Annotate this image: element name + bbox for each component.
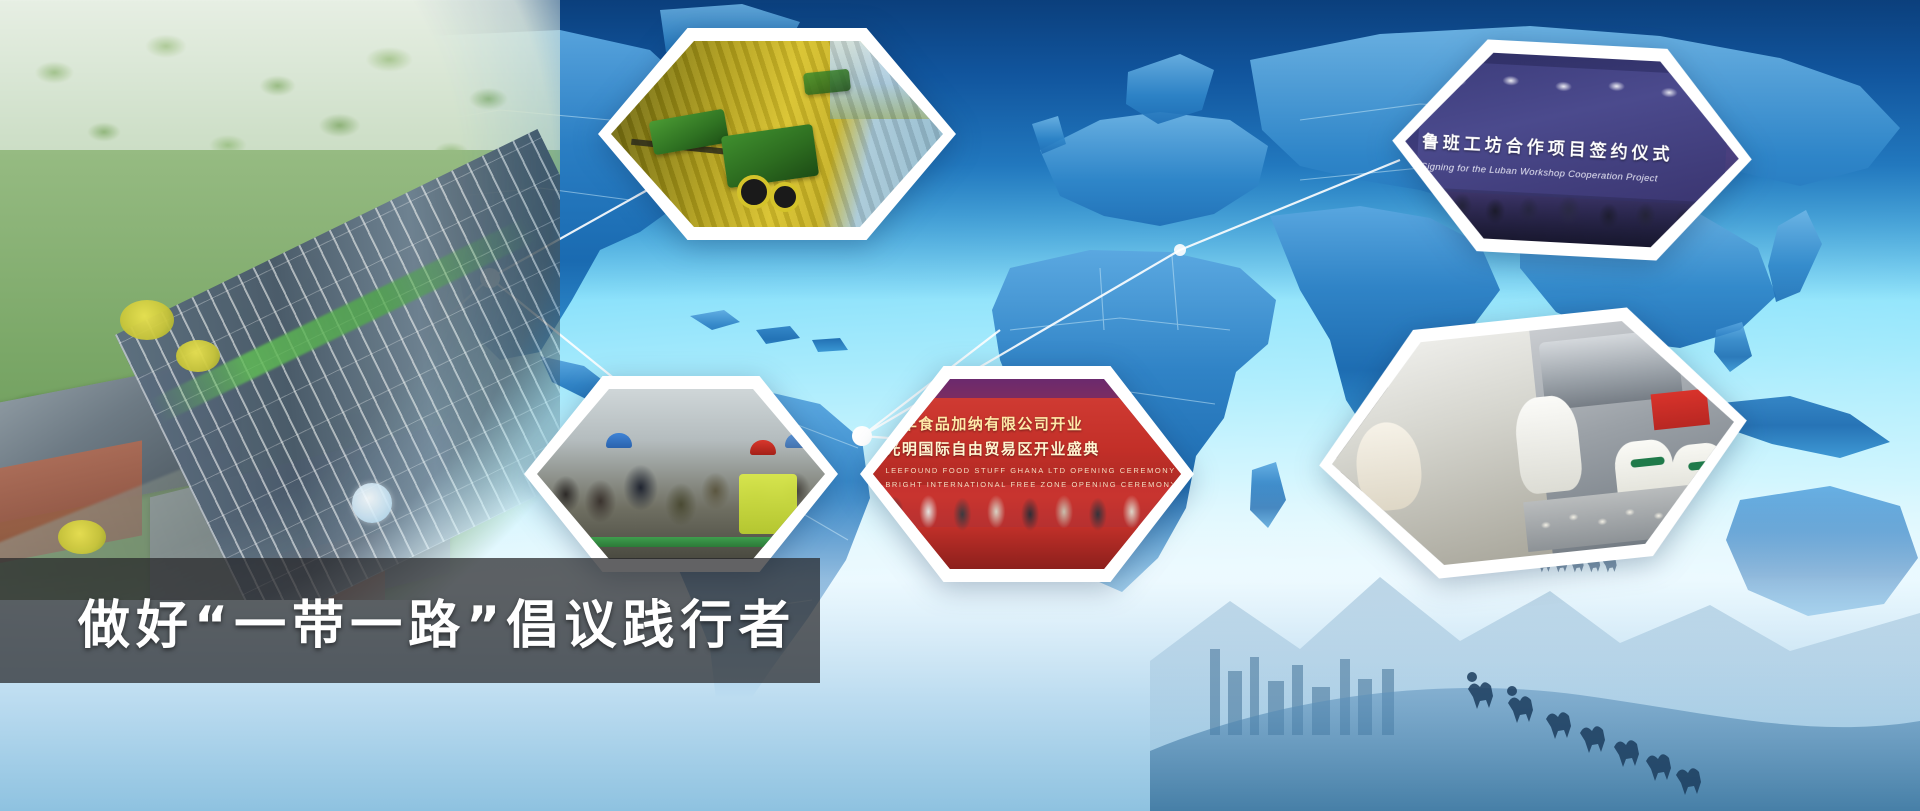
- workers-scene: [537, 389, 825, 559]
- campus-greenhouse-photo: [0, 0, 560, 600]
- chef-hat-blue: [1339, 524, 1381, 552]
- headline-title: 做好“一带一路”倡议践行者: [0, 583, 796, 658]
- hex-photo-site-delegation[interactable]: [524, 376, 838, 572]
- photo-yellow-tree-b: [176, 340, 220, 372]
- chef-student: [1670, 441, 1730, 510]
- harvester-wheel-front: [737, 175, 771, 209]
- kitchen-scene: [1320, 310, 1745, 575]
- photo-yellow-tree-c: [58, 520, 106, 554]
- green-barrier-rail: [537, 537, 825, 547]
- hex-frame: [524, 376, 838, 572]
- hex-frame: 鲁班工坊合作项目签约仪式 Signing for the Luban Works…: [1387, 35, 1758, 266]
- hard-hat-blue-2: [785, 433, 811, 448]
- chef-toque-white: [1341, 548, 1376, 575]
- photo-roof-logo: [352, 483, 392, 523]
- china-flag-backdrop: [1650, 389, 1709, 431]
- hex-image: [1320, 310, 1745, 575]
- guest-face: [1335, 490, 1372, 527]
- hex-image: 鲁班工坊合作项目签约仪式 Signing for the Luban Works…: [1400, 48, 1743, 251]
- hex-image: [537, 389, 825, 559]
- photo-yellow-tree-a: [120, 300, 174, 340]
- chef-hat-black: [1320, 349, 1358, 373]
- hex-photo-wheat-harvest[interactable]: [598, 28, 956, 240]
- banner-image: 鲁班工坊合作项目签约仪式 Signing for the Luban Works…: [0, 0, 1920, 811]
- hex-photo-ghana-opening[interactable]: 利丰食品加纳有限公司开业 光明国际自由贸易区开业盛典 LEEFOUND FOOD…: [860, 366, 1194, 582]
- hex-frame: [1306, 296, 1760, 590]
- safety-vest: [739, 474, 797, 534]
- combine-harvester-distant: [803, 68, 851, 95]
- headline-overlay-bar: 做好“一带一路”倡议践行者: [0, 558, 820, 683]
- luban-stage: 鲁班工坊合作项目签约仪式 Signing for the Luban Works…: [1400, 48, 1743, 251]
- ghana-banner-line1-cn: 利丰食品加纳有限公司开业: [885, 413, 1175, 434]
- hex-frame: [598, 28, 956, 240]
- hex-photo-culinary-exchange[interactable]: [1306, 296, 1760, 590]
- hex-image: [611, 41, 943, 227]
- ghana-banner-line2-cn: 光明国际自由贸易区开业盛典: [885, 438, 1175, 459]
- ghana-guest-row: [873, 474, 1181, 539]
- hex-photo-luban-workshop[interactable]: 鲁班工坊合作项目签约仪式 Signing for the Luban Works…: [1387, 35, 1758, 266]
- hex-frame: 利丰食品加纳有限公司开业 光明国际自由贸易区开业盛典 LEEFOUND FOOD…: [860, 366, 1194, 582]
- hex-image: 利丰食品加纳有限公司开业 光明国际自由贸易区开业盛典 LEEFOUND FOOD…: [873, 379, 1181, 569]
- ghana-ceremony: 利丰食品加纳有限公司开业 光明国际自由贸易区开业盛典 LEEFOUND FOOD…: [873, 379, 1181, 569]
